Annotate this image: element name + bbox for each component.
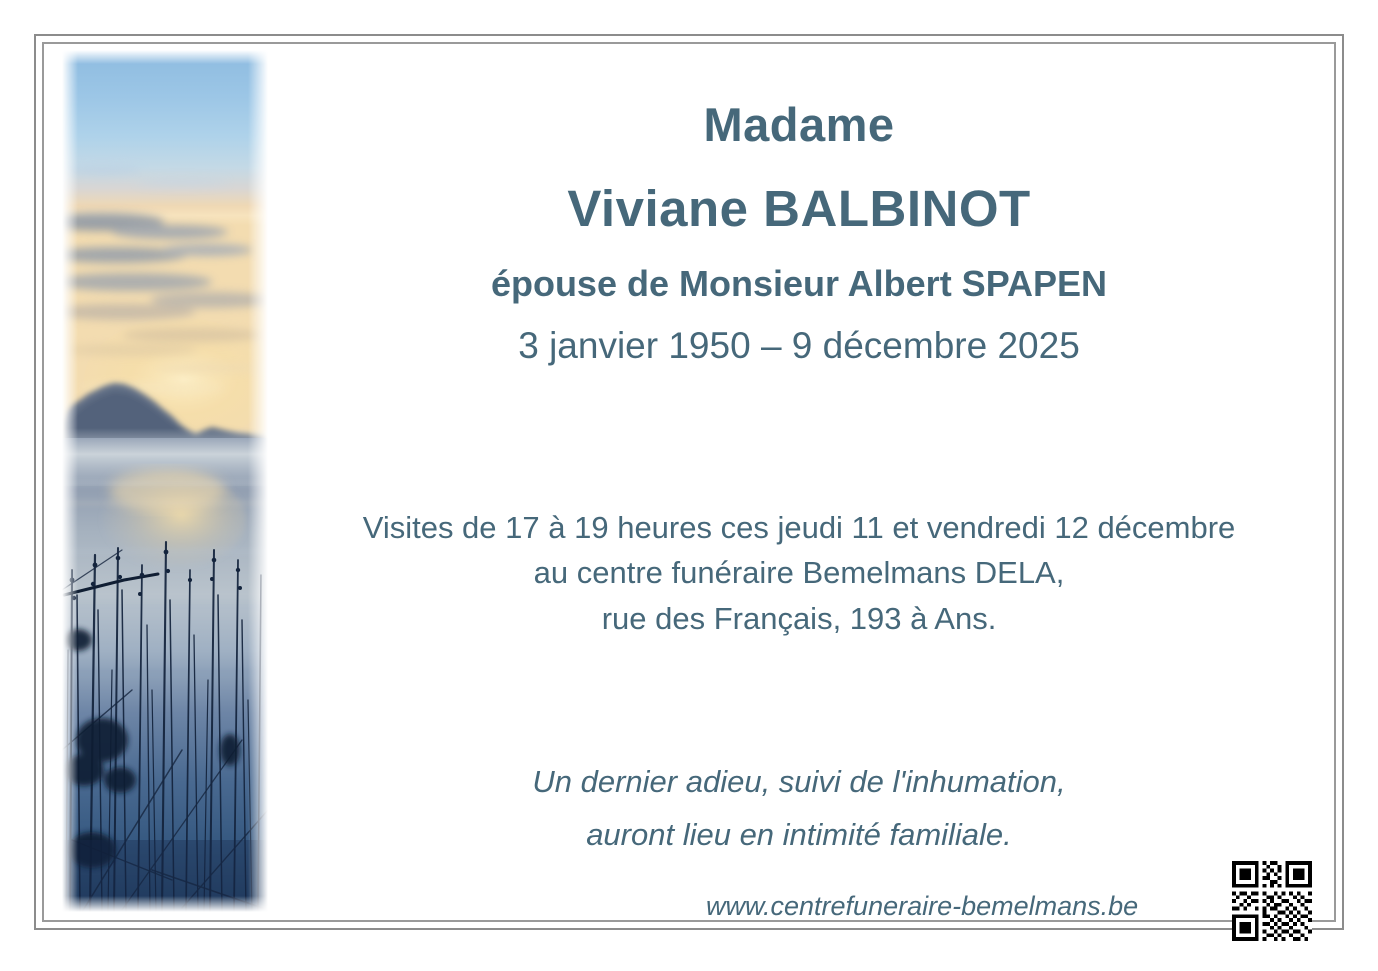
farewell-line-1: Un dernier adieu, suivi de l'inhumation, (276, 755, 1322, 808)
spouse-line: épouse de Monsieur Albert SPAPEN (276, 263, 1322, 304)
website-url[interactable]: www.centrefuneraire-bemelmans.be (706, 891, 1138, 922)
visits-line-2: au centre funéraire Bemelmans DELA, (276, 550, 1322, 595)
life-dates: 3 janvier 1950 – 9 décembre 2025 (276, 325, 1322, 368)
farewell-block: Un dernier adieu, suivi de l'inhumation,… (276, 755, 1322, 862)
memorial-photo (62, 50, 268, 912)
visits-line-3: rue des Français, 193 à Ans. (276, 596, 1322, 641)
announcement-text: Madame Viviane BALBINOT épouse de Monsie… (276, 50, 1322, 912)
honorific: Madame (276, 98, 1322, 152)
visits-block: Visites de 17 à 19 heures ces jeudi 11 e… (276, 505, 1322, 641)
qr-code[interactable] (1232, 861, 1312, 941)
farewell-line-2: auront lieu en intimité familiale. (276, 808, 1322, 861)
deceased-name: Viviane BALBINOT (276, 180, 1322, 239)
visits-line-1: Visites de 17 à 19 heures ces jeudi 11 e… (276, 505, 1322, 550)
